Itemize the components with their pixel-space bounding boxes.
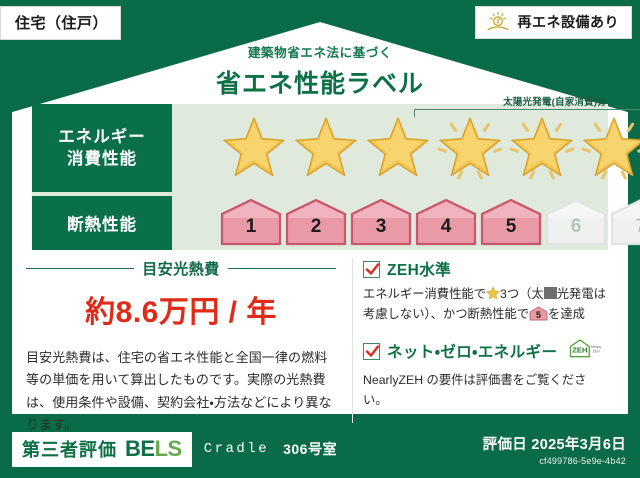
insulation-grade-5: 5 xyxy=(480,198,542,246)
zeh-logo-icon: ZEH Nearly ZEH xyxy=(564,337,602,366)
insulation-grade-value: 3 xyxy=(350,198,412,246)
zeh-standard-title: ZEH水準 xyxy=(387,258,451,280)
energy-label-root: 住宅（住戸） 再エネ設備あり 建築物省エネ法に基づく 省エネ性能ラベル xyxy=(0,0,640,478)
inline-star-icon xyxy=(486,286,500,300)
checkbox-checked-icon[interactable] xyxy=(363,343,380,360)
insulation-grade-value: 4 xyxy=(415,198,477,246)
insulation-grade-2: 2 xyxy=(285,198,347,246)
net-zero-energy-header: ネット・ゼロ・エネルギー ZEH Nearly ZEH xyxy=(363,337,610,366)
bels-logo: BELS xyxy=(125,436,182,462)
evaluation-info: 評価日 2025年3月6日 cf499786-5e9e-4b42 xyxy=(483,433,626,466)
heading-rule-right xyxy=(228,268,336,269)
utility-cost-block: 目安光熱費 約8.6万円 / 年 目安光熱費は、住宅の省エネ性能と全国一律の燃料… xyxy=(26,258,336,436)
building-name: Cradle xyxy=(204,441,269,457)
zeh-body-mid: 3つ（太 xyxy=(500,287,544,301)
energy-performance-row: エネルギー 消費性能 太陽光発電(自家消費)分 xyxy=(32,104,608,192)
performance-panel: エネルギー 消費性能 太陽光発電(自家消費)分 xyxy=(32,104,608,250)
insulation-grade-1: 1 xyxy=(220,198,282,246)
star-icon xyxy=(436,114,504,180)
renewable-equipment-badge: 再エネ設備あり xyxy=(475,6,633,39)
star-icon xyxy=(364,114,432,180)
evaluation-id: cf499786-5e9e-4b42 xyxy=(483,456,626,466)
inline-grade-value: 5 xyxy=(529,306,548,321)
insulation-grade-value: 2 xyxy=(285,198,347,246)
star-icon xyxy=(292,114,360,180)
redacted-mask xyxy=(544,287,557,299)
footer-bar: 第三者評価 BELS Cradle 306号室 評価日 2025年3月6日 cf… xyxy=(0,420,640,478)
net-zero-energy-body: NearlyZEH の要件は評価書をご覧ください。 xyxy=(363,371,610,411)
category-badge: 住宅（住戸） xyxy=(0,6,121,40)
evaluation-date: 評価日 2025年3月6日 xyxy=(483,433,626,454)
zeh-standard-body: エネルギー消費性能で3つ（太光発電は考慮しない）、かつ断熱性能で5を達成 xyxy=(363,285,610,325)
insulation-grade-3: 3 xyxy=(350,198,412,246)
insulation-grade-7: 7 xyxy=(610,198,640,246)
checkbox-checked-icon[interactable] xyxy=(363,261,380,278)
zeh-standard-header: ZEH水準 xyxy=(363,258,610,280)
renewable-badge-label: 再エネ設備あり xyxy=(518,12,620,32)
insulation-performance-label: 断熱性能 xyxy=(32,196,172,250)
inline-grade-icon: 5 xyxy=(529,306,548,321)
insulation-grade-4: 4 xyxy=(415,198,477,246)
star-icon xyxy=(220,114,288,180)
room-number: 306号室 xyxy=(283,439,337,459)
grade-list: 1 2 3 4 5 xyxy=(220,198,640,246)
heading-rule-left xyxy=(26,268,134,269)
net-zero-energy-item: ネット・ゼロ・エネルギー ZEH Nearly ZEH NearlyZEH の要… xyxy=(363,337,610,411)
third-party-eval-label: 第三者評価 xyxy=(22,436,117,462)
svg-text:ZEH: ZEH xyxy=(573,345,588,354)
star-rating: 太陽光発電(自家消費)分 xyxy=(172,104,608,192)
net-zero-energy-title: ネット・ゼロ・エネルギー xyxy=(387,340,557,362)
utility-cost-heading-text: 目安光熱費 xyxy=(142,258,220,279)
svg-text:Nearly: Nearly xyxy=(591,345,602,349)
bels-certification-mark: 第三者評価 BELS xyxy=(12,432,192,467)
evaluation-date-value: 2025年3月6日 xyxy=(531,437,626,453)
zeh-body-post: を達成 xyxy=(548,307,585,321)
star-icon xyxy=(508,114,576,180)
zeh-block: ZEH水準 エネルギー消費性能で3つ（太光発電は考慮しない）、かつ断熱性能で5を… xyxy=(352,258,610,423)
zeh-body-pre: エネルギー消費性能で xyxy=(363,287,486,301)
sun-icon xyxy=(484,11,512,33)
energy-performance-label: エネルギー 消費性能 xyxy=(32,104,172,192)
star-icon xyxy=(580,114,640,180)
insulation-scale: 1 2 3 4 5 xyxy=(172,196,608,250)
zeh-standard-item: ZEH水準 エネルギー消費性能で3つ（太光発電は考慮しない）、かつ断熱性能で5を… xyxy=(363,258,610,325)
insulation-grade-value: 7 xyxy=(610,198,640,246)
title-subtitle: 建築物省エネ法に基づく xyxy=(0,42,640,61)
utility-cost-value: 約8.6万円 / 年 xyxy=(26,287,336,331)
svg-text:ZEH: ZEH xyxy=(593,349,601,353)
utility-cost-heading: 目安光熱費 xyxy=(26,258,336,279)
insulation-grade-value: 1 xyxy=(220,198,282,246)
evaluation-date-label: 評価日 xyxy=(483,437,527,453)
title-block: 建築物省エネ法に基づく 省エネ性能ラベル xyxy=(0,42,640,100)
star-list xyxy=(220,114,640,180)
insulation-performance-row: 断熱性能 1 2 3 4 xyxy=(32,196,608,250)
insulation-grade-6: 6 xyxy=(545,198,607,246)
insulation-grade-value: 5 xyxy=(480,198,542,246)
insulation-grade-value: 6 xyxy=(545,198,607,246)
